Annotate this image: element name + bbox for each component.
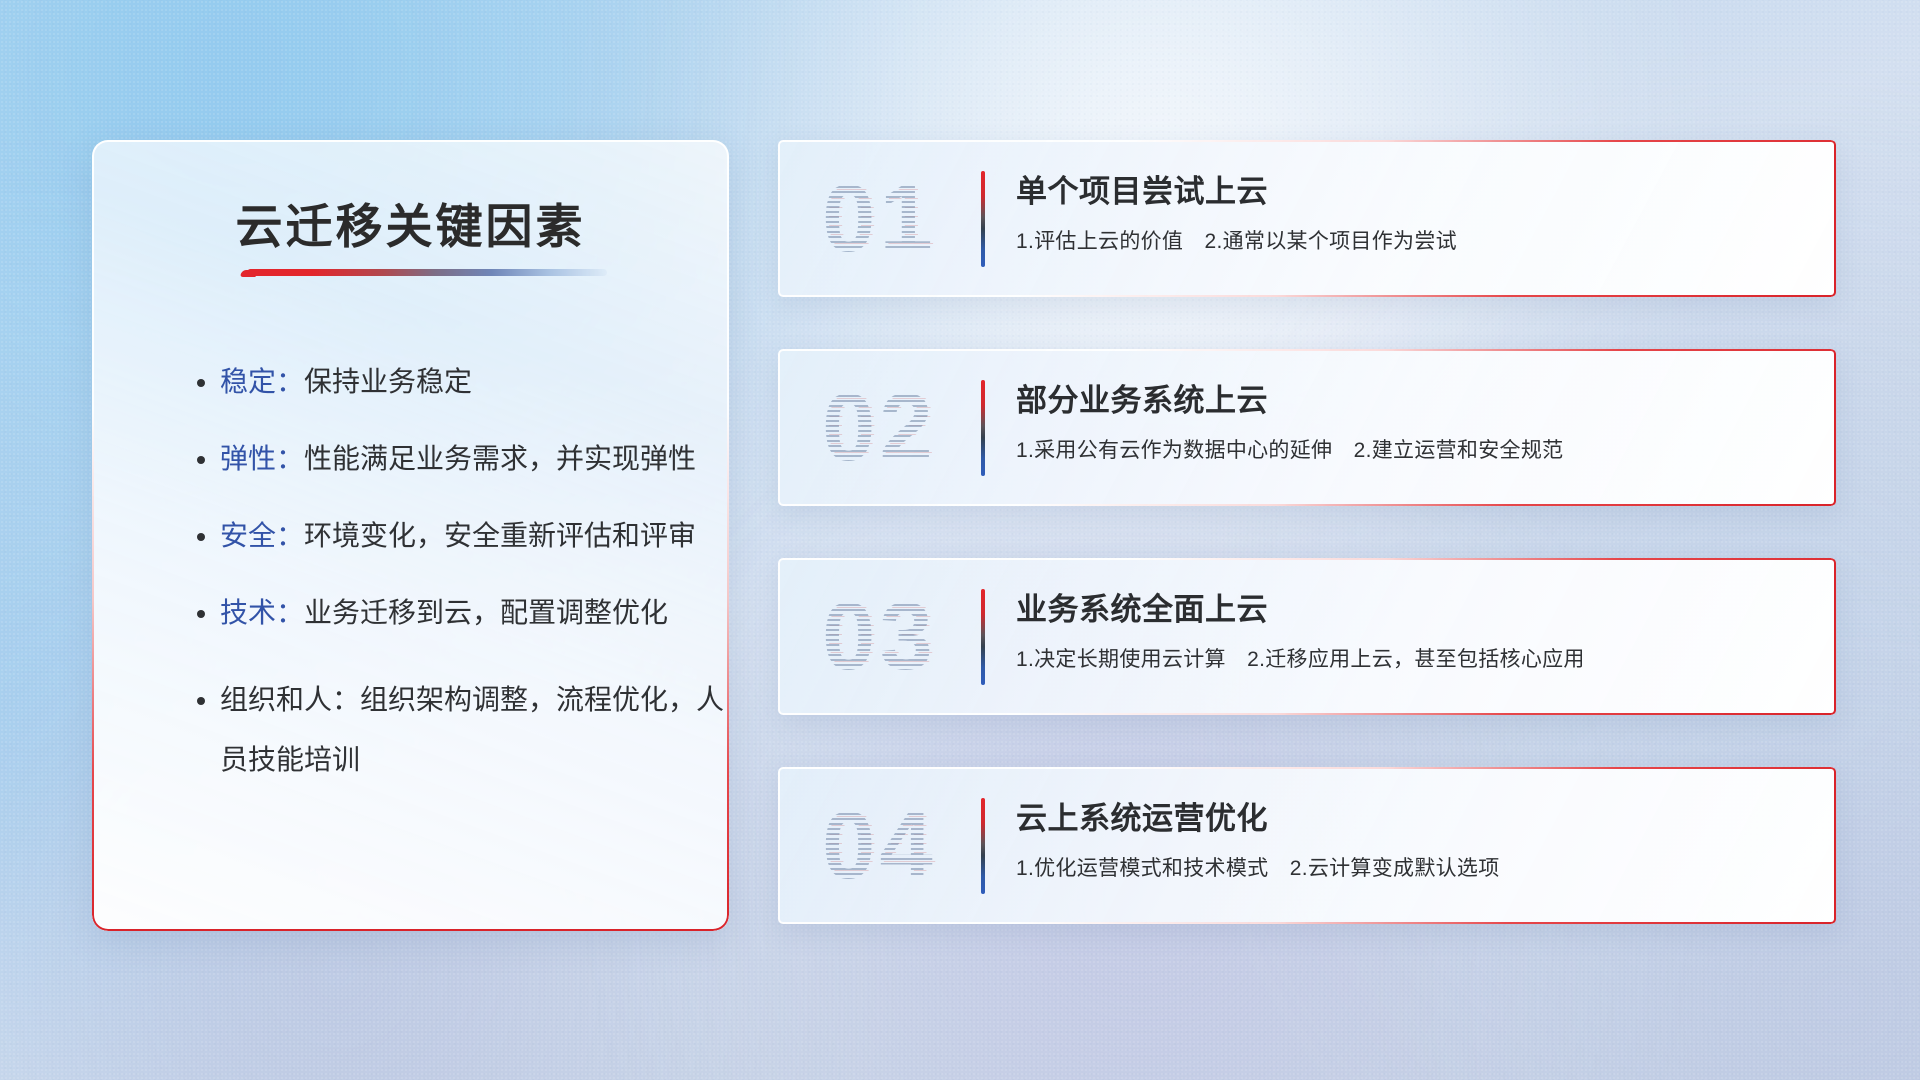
list-item: 组织和人：组织架构调整，流程优化，人员技能培训 — [220, 670, 729, 790]
slide-stage: 云迁移关键因素 稳定：保持业务稳定 弹性：性能满足业务需求，并实现弹性 安全：环… — [0, 0, 1920, 1080]
list-item-label: 稳定： — [220, 366, 304, 397]
stage-accent-bar — [981, 589, 985, 685]
stage-description: 1.评估上云的价值 2.通常以某个项目作为尝试 — [1016, 225, 1808, 255]
stage-number-watermark: 03 — [822, 589, 937, 685]
list-item-label: 弹性： — [220, 443, 304, 474]
key-factors-list: 稳定：保持业务稳定 弹性：性能满足业务需求，并实现弹性 安全：环境变化，安全重新… — [220, 362, 681, 826]
stage-card-03[interactable]: 03 03 业务系统全面上云 1.决定长期使用云计算 2.迁移应用上云，甚至包括… — [778, 558, 1836, 715]
stage-content: 云上系统运营优化 1.优化运营模式和技术模式 2.云计算变成默认选项 — [1016, 793, 1808, 882]
stage-number-watermark: 02 — [822, 380, 937, 476]
list-item-label: 组织和人： — [220, 684, 360, 715]
list-item: 稳定：保持业务稳定 — [220, 362, 681, 403]
stage-accent-bar — [981, 380, 985, 476]
list-item-label: 安全： — [220, 520, 304, 551]
stage-content: 单个项目尝试上云 1.评估上云的价值 2.通常以某个项目作为尝试 — [1016, 166, 1808, 255]
list-item: 技术：业务迁移到云，配置调整优化 — [220, 593, 681, 634]
stage-card-04[interactable]: 04 04 云上系统运营优化 1.优化运营模式和技术模式 2.云计算变成默认选项 — [778, 767, 1836, 924]
stage-title: 单个项目尝试上云 — [1016, 166, 1808, 211]
stage-title: 部分业务系统上云 — [1016, 375, 1808, 420]
list-item: 弹性：性能满足业务需求，并实现弹性 — [220, 439, 681, 480]
stage-content: 部分业务系统上云 1.采用公有云作为数据中心的延伸 2.建立运营和安全规范 — [1016, 375, 1808, 464]
stage-description: 1.优化运营模式和技术模式 2.云计算变成默认选项 — [1016, 852, 1808, 882]
stage-title: 云上系统运营优化 — [1016, 793, 1808, 838]
list-item: 安全：环境变化，安全重新评估和评审 — [220, 516, 681, 557]
stage-number-watermark: 01 — [822, 171, 937, 267]
stage-card-02[interactable]: 02 02 部分业务系统上云 1.采用公有云作为数据中心的延伸 2.建立运营和安… — [778, 349, 1836, 506]
stage-title: 业务系统全面上云 — [1016, 584, 1808, 629]
key-factors-panel: 云迁移关键因素 稳定：保持业务稳定 弹性：性能满足业务需求，并实现弹性 安全：环… — [92, 140, 729, 931]
stage-card-01[interactable]: 01 01 单个项目尝试上云 1.评估上云的价值 2.通常以某个项目作为尝试 — [778, 140, 1836, 297]
stage-description: 1.采用公有云作为数据中心的延伸 2.建立运营和安全规范 — [1016, 434, 1808, 464]
title-underline-accent — [247, 269, 607, 276]
list-item-text: 业务迁移到云，配置调整优化 — [304, 597, 668, 628]
stage-description: 1.决定长期使用云计算 2.迁移应用上云，甚至包括核心应用 — [1016, 643, 1808, 673]
list-item-text: 保持业务稳定 — [304, 366, 472, 397]
stage-accent-bar — [981, 798, 985, 894]
migration-stages-list: 01 01 单个项目尝试上云 1.评估上云的价值 2.通常以某个项目作为尝试 0… — [778, 140, 1836, 976]
stage-accent-bar — [981, 171, 985, 267]
stage-content: 业务系统全面上云 1.决定长期使用云计算 2.迁移应用上云，甚至包括核心应用 — [1016, 584, 1808, 673]
stage-number-watermark: 04 — [822, 798, 937, 894]
list-item-text: 性能满足业务需求，并实现弹性 — [304, 443, 696, 474]
page-title: 云迁移关键因素 — [92, 188, 729, 257]
list-item-label: 技术： — [220, 597, 304, 628]
list-item-text: 环境变化，安全重新评估和评审 — [304, 520, 696, 551]
